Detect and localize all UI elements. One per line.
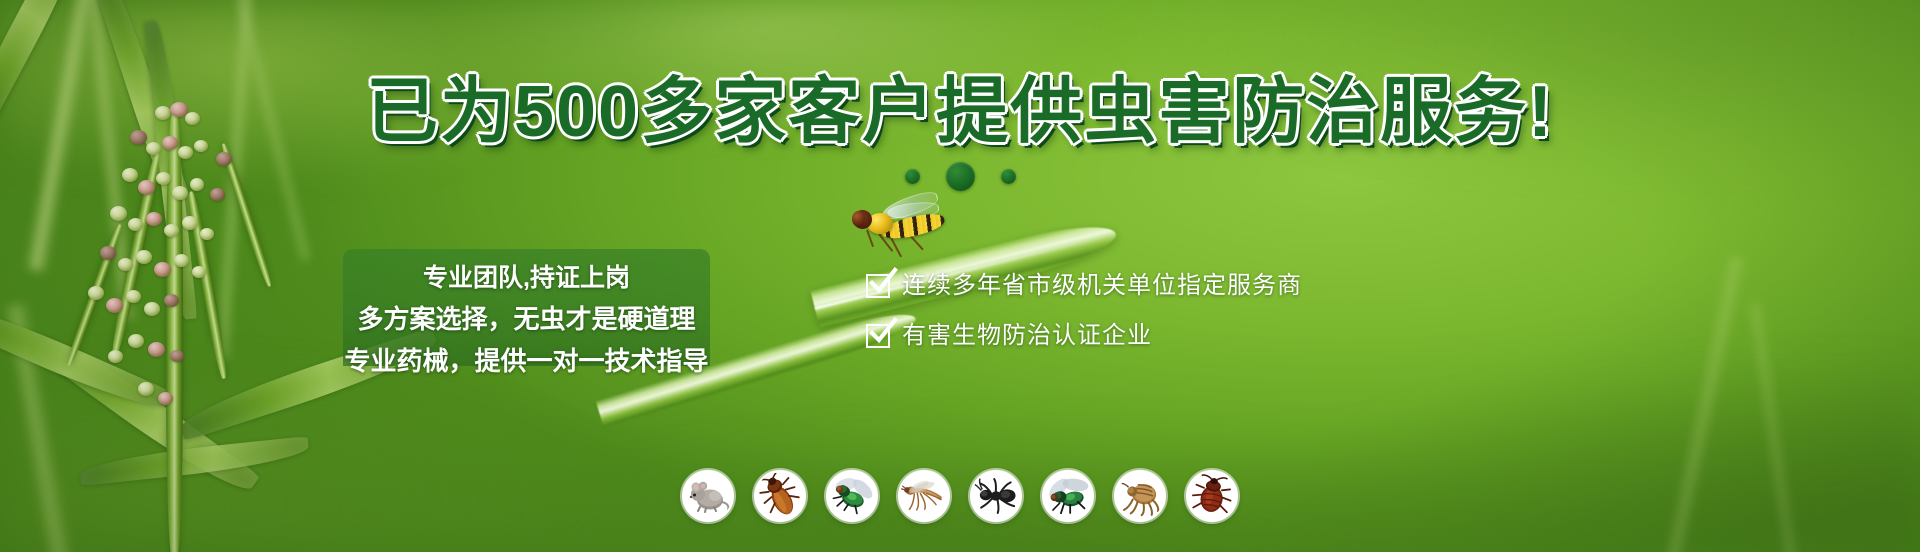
credential-label: 连续多年省市级机关单位指定服务商 bbox=[902, 273, 1302, 299]
cockroach-icon[interactable] bbox=[754, 470, 806, 522]
mosquito-icon[interactable] bbox=[898, 470, 950, 522]
blowfly-icon[interactable] bbox=[826, 470, 878, 522]
decorative-dots-group bbox=[0, 162, 1920, 191]
features-panel: 专业团队,持证上岗 多方案选择，无虫才是硬道理 专业药械，提供一对一技术指导 bbox=[343, 249, 710, 366]
credential-label: 有害生物防治认证企业 bbox=[902, 323, 1152, 349]
banner-headline: 已为500多家客户提供虫害防治服务! bbox=[0, 76, 1920, 148]
features-panel-line-2: 多方案选择，无虫才是硬道理 bbox=[358, 299, 696, 339]
features-panel-line-1: 专业团队,持证上岗 bbox=[423, 260, 630, 297]
checkmark-glyph bbox=[868, 317, 898, 347]
checkbox-checked-icon bbox=[866, 274, 890, 298]
ant-icon[interactable] bbox=[970, 470, 1022, 522]
credential-item: 有害生物防治认证企业 bbox=[866, 323, 1302, 349]
decorative-dot-large-center bbox=[946, 162, 975, 191]
flea-icon[interactable] bbox=[1114, 470, 1166, 522]
housefly-icon[interactable] bbox=[1042, 470, 1094, 522]
checkbox-checked-icon bbox=[866, 324, 890, 348]
mouse-icon[interactable] bbox=[682, 470, 734, 522]
decorative-dot-small-right bbox=[1001, 169, 1016, 184]
credentials-list: 连续多年省市级机关单位指定服务商 有害生物防治认证企业 bbox=[866, 273, 1302, 349]
decorative-dot-small-left bbox=[905, 169, 920, 184]
features-panel-line-3: 专业药械，提供一对一技术指导 bbox=[345, 341, 709, 381]
checkmark-glyph bbox=[868, 267, 898, 297]
bedbug-icon[interactable] bbox=[1186, 470, 1238, 522]
pest-icons-row bbox=[0, 470, 1920, 522]
banner-headline-text: 已为500多家客户提供虫害防治服务! bbox=[366, 76, 1554, 148]
credential-item: 连续多年省市级机关单位指定服务商 bbox=[866, 273, 1302, 299]
pest-control-banner: 已为500多家客户提供虫害防治服务! 专业团队,持证上岗 多方案选择，无虫才是硬… bbox=[0, 0, 1920, 552]
